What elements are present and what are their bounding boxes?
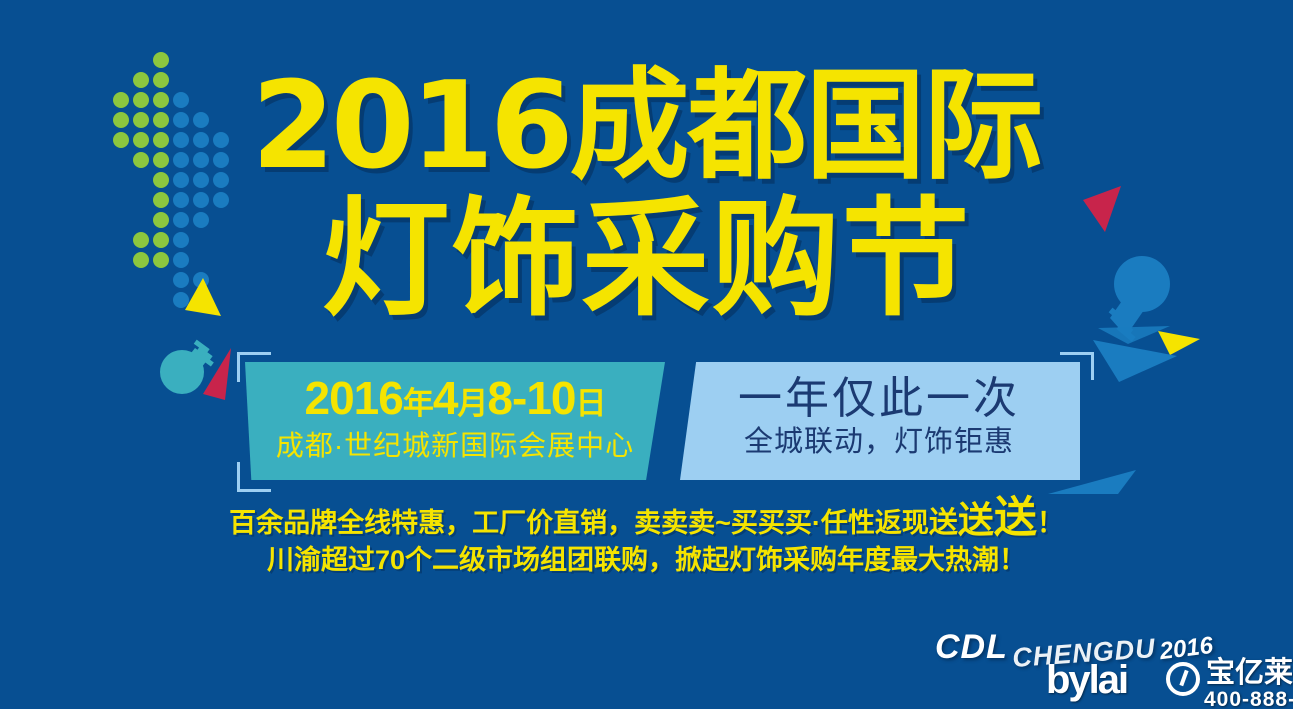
promo-line-2: 川渝超过70个二级市场组团联购，掀起灯饰采购年度最大热潮！ <box>0 545 1293 575</box>
event-slogan-panel: 一年仅此一次 全城联动，灯饰钜惠 <box>678 362 1080 480</box>
promo-line-1: 百余品牌全线特惠，工厂价直销，卖卖卖~买买买·任性返现送送送！ <box>0 503 1293 538</box>
event-date-panel: 2016年4月8-10日 成都·世纪城新国际会展中心 <box>245 362 665 480</box>
date-month-unit: 月 <box>457 386 487 421</box>
slogan-headline: 一年仅此一次 <box>678 376 1080 422</box>
signature-abbrev: CDL <box>935 628 1008 666</box>
triangle-icon-red-left <box>203 348 233 402</box>
date-month: 4 <box>433 372 458 424</box>
circle-bulb-mark-icon <box>1166 662 1200 696</box>
date-year: 2016 <box>304 372 402 424</box>
promo-song-2: 送 <box>958 499 994 540</box>
page-title-line2: 灯饰采购节 <box>0 196 1293 324</box>
event-venue: 成都·世纪城新国际会展中心 <box>245 430 665 462</box>
slogan-sub: 全城联动，灯饰钜惠 <box>678 426 1080 458</box>
title-text: 成都国际 <box>569 59 1041 193</box>
date-days: 8-10 <box>487 372 575 424</box>
watermark: bylai 宝亿莱软装 400-888-9937 <box>1046 658 1293 709</box>
triangle-icon-blue-topright <box>1098 326 1172 346</box>
promo-song-1: 送 <box>929 507 958 539</box>
promo-song-3: 送 <box>994 494 1037 542</box>
date-year-unit: 年 <box>403 386 433 421</box>
page-title-line1: 2016成都国际 <box>0 66 1293 187</box>
date-day-unit: 日 <box>576 386 606 421</box>
watermark-brand-cn: 宝亿莱软装 <box>1206 658 1293 688</box>
promo-line-1-end: ！ <box>1037 508 1064 538</box>
title-year: 2016 <box>252 57 570 196</box>
event-date: 2016年4月8-10日 <box>245 374 665 428</box>
watermark-brand-latin: bylai <box>1046 660 1127 700</box>
triangle-icon-blue-right <box>1093 340 1179 384</box>
watermark-phone: 400-888-9937 <box>1204 689 1293 709</box>
promo-line-1-main: 百余品牌全线特惠，工厂价直销，卖卖卖~买买买·任性返现 <box>229 508 929 538</box>
promotional-banner: 2016成都国际 灯饰采购节 2016年4月8-10日 成都·世纪城新国际会展中… <box>0 0 1293 709</box>
